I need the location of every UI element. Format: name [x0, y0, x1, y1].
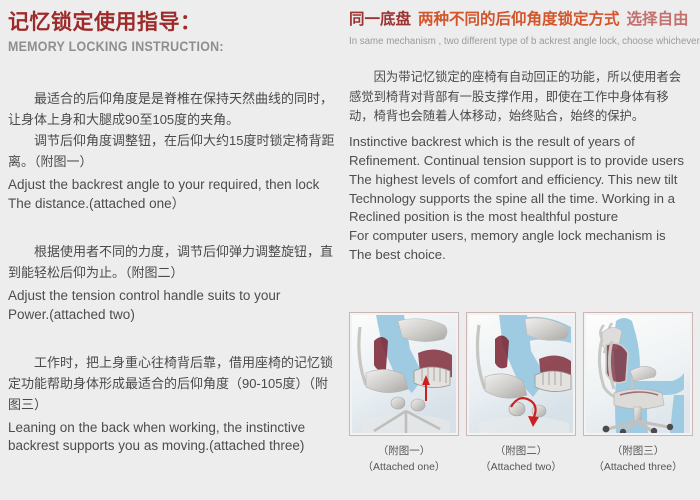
block-one-cn-a: 最适合的后仰角度是是脊椎在保持天然曲线的同时，让身体上身和大腿成90至105度的… — [8, 88, 340, 130]
right-heading-segment-c: 选择自由 — [627, 11, 689, 28]
figure-gallery: （附图一） （Attached one） — [349, 312, 694, 476]
spacer — [349, 126, 692, 133]
block-three-en-line-2: backrest supports you as moving.(attache… — [8, 437, 340, 455]
spacer — [8, 213, 340, 227]
block-one-cn-b: 调节后仰角度调整钮，在后仰大约15度时锁定椅背距离。（附图一） — [8, 130, 340, 172]
right-column: 同一底盘两种不同的后仰角度锁定方式选择自由 In same mechanism … — [349, 10, 692, 265]
page-title-cn: 记忆锁定使用指导： — [8, 10, 340, 36]
instruction-sheet: 记忆锁定使用指导： MEMORY LOCKING INSTRUCTION: 最适… — [0, 0, 700, 500]
left-column: 记忆锁定使用指导： MEMORY LOCKING INSTRUCTION: 最适… — [8, 10, 340, 456]
block-two-cn: 根据使用者不同的力度，调节后仰弹力调整旋钮，直到能轻松后仰为止。（附图二） — [8, 241, 340, 283]
right-en-line-5: Reclined position is the most healthful … — [349, 208, 692, 227]
figure-one-caption: （附图一） （Attached one） — [349, 444, 459, 476]
right-en-line-2: Refinement. Continual tension support is… — [349, 152, 692, 171]
block-three-en-line-1: Leaning on the back when working, the in… — [8, 419, 340, 437]
block-three-cn: 工作时，把上身重心往椅背后靠，借用座椅的记忆锁定功能帮助身体形成最适合的后仰角度… — [8, 352, 340, 415]
figure-one-caption-cn: （附图一） — [349, 444, 459, 460]
right-en-line-6: For computer users, memory angle lock me… — [349, 227, 692, 246]
figure-attached-three[interactable]: （附图三） （Attached three） — [583, 312, 693, 476]
figure-two-caption: （附图二） （Attached two） — [466, 444, 576, 476]
right-en-line-3: The highest levels of comfort and effici… — [349, 171, 692, 190]
spacer — [8, 324, 340, 338]
block-two-en-line-2: Power.(attached two) — [8, 306, 340, 324]
right-heading-segment-a: 同一底盘 — [349, 11, 411, 28]
right-heading: 同一底盘两种不同的后仰角度锁定方式选择自由 — [349, 10, 692, 30]
instruction-block-one: 最适合的后仰角度是是脊椎在保持天然曲线的同时，让身体上身和大腿成90至105度的… — [8, 88, 340, 213]
figure-three-caption-cn: （附图三） — [583, 444, 693, 460]
figure-three-caption-en: （Attached three） — [583, 460, 693, 476]
block-one-en-line-2: The distance.(attached one） — [8, 195, 340, 213]
figure-two-frame — [466, 312, 576, 436]
figure-two-caption-cn: （附图二） — [466, 444, 576, 460]
right-en-line-4: Technology supports the spine all the ti… — [349, 190, 692, 209]
figure-one-frame — [349, 312, 459, 436]
right-en-line-1: Instinctive backrest which is the result… — [349, 133, 692, 152]
figure-three-caption: （附图三） （Attached three） — [583, 444, 693, 476]
instruction-block-three: 工作时，把上身重心往椅背后靠，借用座椅的记忆锁定功能帮助身体形成最适合的后仰角度… — [8, 352, 340, 456]
figure-three-photo — [586, 315, 690, 433]
instruction-block-two: 根据使用者不同的力度，调节后仰弹力调整旋钮，直到能轻松后仰为止。（附图二） Ad… — [8, 241, 340, 324]
figure-two-photo — [469, 315, 573, 433]
figure-one-caption-en: （Attached one） — [349, 460, 459, 476]
right-paragraph-en: Instinctive backrest which is the result… — [349, 133, 692, 264]
figure-three-frame — [583, 312, 693, 436]
figure-two-caption-en: （Attached two） — [466, 460, 576, 476]
spacer — [349, 48, 692, 68]
block-one-en-line-1: Adjust the backrest angle to your requir… — [8, 176, 340, 194]
figure-one-photo — [352, 315, 456, 433]
page-title-en: MEMORY LOCKING INSTRUCTION: — [8, 39, 313, 54]
right-paragraph-cn: 因为带记忆锁定的座椅有自动回正的功能，所以使用者会感觉到椅背对背部有一股支撑作用… — [349, 68, 692, 126]
right-en-line-7: The best choice. — [349, 246, 692, 265]
block-two-en-line-1: Adjust the tension control handle suits … — [8, 287, 340, 305]
spacer — [8, 54, 340, 74]
figure-attached-two[interactable]: （附图二） （Attached two） — [466, 312, 576, 476]
figure-attached-one[interactable]: （附图一） （Attached one） — [349, 312, 459, 476]
right-heading-segment-b: 两种不同的后仰角度锁定方式 — [418, 11, 620, 28]
right-subheading: In same mechanism , two different type o… — [349, 35, 682, 48]
